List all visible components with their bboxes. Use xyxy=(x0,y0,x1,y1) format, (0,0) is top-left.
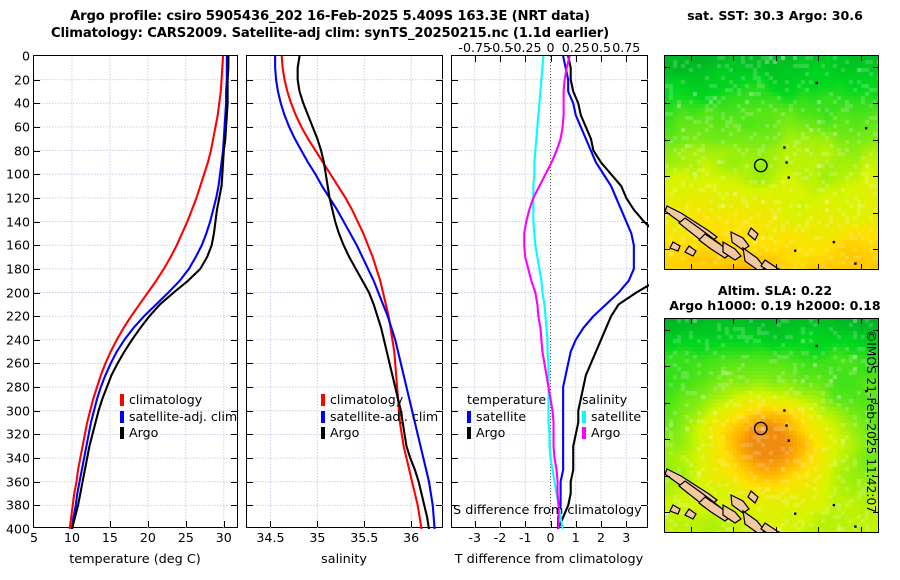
map-x-tick xyxy=(776,56,777,61)
y-axis-tick xyxy=(247,411,253,412)
map-y-tick xyxy=(665,213,670,214)
y-axis-tick xyxy=(436,127,442,128)
depth-tick-label: 320 xyxy=(6,427,30,442)
depth-tick-label: 80 xyxy=(14,143,30,158)
map-x-tick xyxy=(818,264,819,269)
x-tick-label-top: -0.25 xyxy=(509,40,542,55)
x-tick-label: 5 xyxy=(30,530,38,545)
y-axis-tick xyxy=(231,505,237,506)
x-axis-tick xyxy=(576,521,577,527)
y-axis-tick xyxy=(231,151,237,152)
x-axis-tick-top xyxy=(551,56,552,62)
y-axis-tick xyxy=(34,103,40,104)
x-tick-label: 15 xyxy=(102,530,118,545)
legend-swatch-satellite-adj xyxy=(120,411,124,423)
legend-swatch-salinity-argo xyxy=(582,427,586,439)
x-axis-tick-top xyxy=(525,56,526,62)
temperature-legend: climatology satellite-adj. clim Argo xyxy=(120,392,237,442)
y-axis-tick xyxy=(247,458,253,459)
y-axis-tick xyxy=(34,505,40,506)
y-axis-tick xyxy=(34,80,40,81)
map-x-tick xyxy=(818,527,819,532)
y-axis-tick xyxy=(452,151,458,152)
x-tick-label-top: 0 xyxy=(546,40,554,55)
y-axis-tick xyxy=(231,198,237,199)
legend-item: climatology xyxy=(321,392,438,409)
imos-credit: ©IMOS 21-Feb-2025 11:42:07 xyxy=(864,330,878,513)
y-axis-tick xyxy=(436,434,442,435)
map-y-tick xyxy=(665,403,670,404)
y-axis-tick xyxy=(641,103,647,104)
y-axis-tick xyxy=(34,174,40,175)
legend-swatch-argo xyxy=(321,427,325,439)
map-y-tick xyxy=(665,249,670,250)
sla-map: 0-2-4-6-8-10160162164166168 xyxy=(664,318,879,533)
y-axis-tick xyxy=(231,434,237,435)
y-axis-tick xyxy=(247,482,253,483)
y-axis-tick xyxy=(641,198,647,199)
x-axis-tick xyxy=(500,521,501,527)
map-y-tick xyxy=(665,67,670,68)
sla-overlay xyxy=(665,319,879,533)
x-tick-label: 0 xyxy=(546,530,554,545)
y-axis-tick xyxy=(436,482,442,483)
y-axis-tick xyxy=(436,80,442,81)
y-axis-tick xyxy=(641,222,647,223)
y-axis-tick xyxy=(231,387,237,388)
y-axis-tick xyxy=(231,127,237,128)
y-axis-tick xyxy=(247,363,253,364)
y-axis-tick xyxy=(231,411,237,412)
map-x-tick xyxy=(861,527,862,532)
y-axis-tick xyxy=(34,387,40,388)
x-axis-tick-top xyxy=(475,56,476,62)
x-axis-tick xyxy=(551,521,552,527)
depth-tick-label: 200 xyxy=(6,285,30,300)
map-y-tick xyxy=(665,140,670,141)
sla-map-title-line2: Argo h1000: 0.19 h2000: 0.18 xyxy=(652,298,898,313)
y-axis-tick xyxy=(452,411,458,412)
y-axis-tick xyxy=(247,316,253,317)
y-axis-tick xyxy=(34,434,40,435)
map-x-tick xyxy=(733,527,734,532)
legend-item: Argo xyxy=(120,425,237,442)
legend-heading-temperature: temperature xyxy=(467,392,546,409)
y-axis-tick xyxy=(34,293,40,294)
y-axis-tick xyxy=(231,80,237,81)
legend-label: satellite xyxy=(591,409,641,426)
sla-map-title-line1: Altim. SLA: 0.22 xyxy=(660,283,890,298)
map-x-tick xyxy=(733,264,734,269)
map-x-tick xyxy=(691,319,692,324)
y-axis-tick xyxy=(436,198,442,199)
salinity-difference-axis-title: S difference from climatology xyxy=(453,503,642,518)
map-y-tick xyxy=(665,366,670,367)
y-axis-tick xyxy=(34,340,40,341)
x-axis-tick xyxy=(270,521,271,527)
legend-item: Argo xyxy=(582,425,641,442)
legend-item: Argo xyxy=(321,425,438,442)
y-axis-tick xyxy=(452,245,458,246)
map-y-tick xyxy=(873,140,878,141)
y-axis-tick xyxy=(247,151,253,152)
y-axis-tick xyxy=(436,222,442,223)
y-axis-tick xyxy=(436,151,442,152)
map-y-tick xyxy=(665,103,670,104)
y-axis-tick xyxy=(34,316,40,317)
map-y-tick xyxy=(873,249,878,250)
temperature-axis-title: temperature (deg C) xyxy=(69,552,201,567)
x-axis-tick xyxy=(626,521,627,527)
legend-item: Argo xyxy=(467,425,546,442)
y-axis-tick xyxy=(452,198,458,199)
map-x-tick xyxy=(861,319,862,324)
y-axis-tick xyxy=(436,505,442,506)
y-axis-tick xyxy=(436,387,442,388)
y-axis-tick xyxy=(231,174,237,175)
difference-legend-temperature: temperature satellite Argo xyxy=(467,392,546,442)
x-axis-tick xyxy=(186,521,187,527)
legend-item: satellite-adj. clim xyxy=(321,409,438,426)
y-axis-tick xyxy=(452,269,458,270)
legend-label: satellite-adj. clim xyxy=(330,409,438,426)
x-tick-label: 2 xyxy=(597,530,605,545)
y-axis-tick xyxy=(641,458,647,459)
x-axis-tick xyxy=(525,521,526,527)
y-axis-tick xyxy=(452,174,458,175)
legend-swatch-salinity-satellite xyxy=(582,411,586,423)
y-axis-tick xyxy=(34,363,40,364)
map-x-tick xyxy=(776,264,777,269)
depth-tick-label: 0 xyxy=(22,49,30,64)
y-axis-tick xyxy=(641,434,647,435)
depth-tick-label: 120 xyxy=(6,190,30,205)
y-axis-tick xyxy=(247,103,253,104)
y-axis-tick xyxy=(452,363,458,364)
temperature-plot-area xyxy=(34,56,239,529)
map-x-tick xyxy=(861,56,862,61)
y-axis-tick xyxy=(641,245,647,246)
depth-tick-label: 240 xyxy=(6,332,30,347)
legend-swatch-satellite-adj xyxy=(321,411,325,423)
depth-tick-label: 280 xyxy=(6,380,30,395)
legend-label: satellite xyxy=(476,409,526,426)
map-y-tick xyxy=(665,176,670,177)
legend-label: Argo xyxy=(330,425,359,442)
y-axis-tick xyxy=(452,293,458,294)
legend-label: Argo xyxy=(476,425,505,442)
map-x-tick xyxy=(776,319,777,324)
y-axis-tick xyxy=(247,434,253,435)
map-y-tick xyxy=(873,103,878,104)
y-axis-tick xyxy=(231,269,237,270)
y-axis-tick xyxy=(231,340,237,341)
salinity-axis-title: salinity xyxy=(321,552,367,567)
sst-overlay xyxy=(665,56,879,270)
legend-swatch-climatology xyxy=(321,394,325,406)
map-y-tick xyxy=(665,512,670,513)
y-axis-tick xyxy=(641,316,647,317)
x-tick-label-top: 0.25 xyxy=(562,40,590,55)
y-axis-tick xyxy=(247,340,253,341)
legend-item: satellite xyxy=(467,409,546,426)
y-axis-tick xyxy=(436,174,442,175)
y-axis-tick xyxy=(34,222,40,223)
x-tick-label: 25 xyxy=(178,530,194,545)
y-axis-tick xyxy=(231,245,237,246)
y-axis-tick xyxy=(231,458,237,459)
depth-tick-label: 380 xyxy=(6,498,30,513)
y-axis-tick xyxy=(34,127,40,128)
x-axis-tick xyxy=(110,521,111,527)
y-axis-tick xyxy=(247,269,253,270)
x-axis-tick xyxy=(224,521,225,527)
y-axis-tick xyxy=(247,127,253,128)
y-axis-tick xyxy=(452,222,458,223)
y-axis-tick xyxy=(452,482,458,483)
y-axis-tick xyxy=(231,103,237,104)
y-axis-tick xyxy=(436,245,442,246)
salinity-profile-panel: climatology satellite-adj. clim Argo 34.… xyxy=(246,55,443,528)
y-axis-tick xyxy=(452,127,458,128)
x-tick-label: 10 xyxy=(64,530,80,545)
y-axis-tick xyxy=(247,222,253,223)
map-y-tick xyxy=(873,213,878,214)
y-axis-tick xyxy=(641,340,647,341)
y-axis-tick xyxy=(436,458,442,459)
y-axis-tick xyxy=(231,482,237,483)
x-axis-tick xyxy=(475,521,476,527)
map-x-tick xyxy=(691,527,692,532)
legend-label: climatology xyxy=(330,392,403,409)
y-axis-tick xyxy=(452,80,458,81)
x-tick-label: 20 xyxy=(140,530,156,545)
difference-legend-salinity: salinity satellite Argo xyxy=(582,392,641,442)
y-axis-tick xyxy=(641,482,647,483)
y-axis-tick xyxy=(247,174,253,175)
x-tick-label: -1 xyxy=(519,530,532,545)
temperature-difference-axis-title: T difference from climatology xyxy=(455,552,643,567)
title-line-1: Argo profile: csiro 5905436_202 16-Feb-2… xyxy=(0,8,660,25)
x-axis-tick-top xyxy=(500,56,501,62)
x-axis-tick-top xyxy=(601,56,602,62)
y-axis-tick xyxy=(641,387,647,388)
legend-swatch-argo xyxy=(467,427,471,439)
depth-tick-label: 20 xyxy=(14,72,30,87)
map-x-tick xyxy=(861,264,862,269)
map-x-tick xyxy=(818,56,819,61)
y-axis-tick xyxy=(247,245,253,246)
legend-item: satellite xyxy=(582,409,641,426)
y-axis-tick xyxy=(436,269,442,270)
legend-heading-salinity: salinity xyxy=(582,392,641,409)
depth-tick-label: 360 xyxy=(6,474,30,489)
sst-map: 0-2-4-6-8-10160162164166168 xyxy=(664,55,879,270)
y-axis-tick xyxy=(247,505,253,506)
depth-tick-label: 300 xyxy=(6,403,30,418)
map-x-tick xyxy=(733,319,734,324)
y-axis-tick xyxy=(34,198,40,199)
legend-label: satellite-adj. clim xyxy=(129,409,237,426)
y-axis-tick xyxy=(452,340,458,341)
y-axis-tick xyxy=(231,316,237,317)
map-x-tick xyxy=(733,56,734,61)
y-axis-tick xyxy=(231,222,237,223)
map-y-tick xyxy=(665,439,670,440)
x-axis-tick-top xyxy=(626,56,627,62)
x-tick-label: 30 xyxy=(216,530,232,545)
x-tick-label: 1 xyxy=(572,530,580,545)
x-axis-tick xyxy=(601,521,602,527)
x-axis-tick xyxy=(317,521,318,527)
x-axis-tick xyxy=(364,521,365,527)
y-axis-tick xyxy=(34,269,40,270)
map-x-tick xyxy=(776,527,777,532)
map-x-tick xyxy=(691,264,692,269)
depth-tick-label: 260 xyxy=(6,356,30,371)
y-axis-tick xyxy=(231,363,237,364)
y-axis-tick xyxy=(436,340,442,341)
x-tick-label: 3 xyxy=(622,530,630,545)
y-axis-tick xyxy=(452,387,458,388)
y-axis-tick xyxy=(436,103,442,104)
map-x-tick xyxy=(691,56,692,61)
y-axis-tick xyxy=(34,458,40,459)
legend-item: climatology xyxy=(120,392,237,409)
depth-tick-label: 180 xyxy=(6,261,30,276)
y-axis-tick xyxy=(436,363,442,364)
legend-label: Argo xyxy=(129,425,158,442)
depth-tick-label: 400 xyxy=(6,522,30,537)
y-axis-tick xyxy=(641,269,647,270)
y-axis-tick xyxy=(34,151,40,152)
x-tick-label-top: 0.5 xyxy=(591,40,611,55)
map-x-tick xyxy=(818,319,819,324)
y-axis-tick xyxy=(34,411,40,412)
x-tick-label: -2 xyxy=(494,530,507,545)
depth-tick-label: 160 xyxy=(6,238,30,253)
x-tick-label: 35.5 xyxy=(350,530,378,545)
x-tick-label-top: -0.75 xyxy=(458,40,491,55)
y-axis-tick xyxy=(231,293,237,294)
y-axis-tick xyxy=(436,293,442,294)
x-axis-tick-top xyxy=(576,56,577,62)
salinity-legend: climatology satellite-adj. clim Argo xyxy=(321,392,438,442)
y-axis-tick xyxy=(641,293,647,294)
y-axis-tick xyxy=(452,458,458,459)
y-axis-tick xyxy=(452,316,458,317)
y-axis-tick xyxy=(247,293,253,294)
depth-tick-label: 40 xyxy=(14,96,30,111)
y-axis-tick xyxy=(247,80,253,81)
x-axis-tick xyxy=(411,521,412,527)
y-axis-tick xyxy=(641,174,647,175)
x-tick-label: 36 xyxy=(403,530,419,545)
y-axis-tick xyxy=(436,411,442,412)
x-tick-label: 35 xyxy=(309,530,325,545)
map-y-tick xyxy=(665,330,670,331)
y-axis-tick xyxy=(34,482,40,483)
x-axis-tick xyxy=(148,521,149,527)
depth-tick-label: 100 xyxy=(6,167,30,182)
map-y-tick xyxy=(873,176,878,177)
legend-swatch-satellite xyxy=(467,411,471,423)
page-title: Argo profile: csiro 5905436_202 16-Feb-2… xyxy=(0,8,660,42)
x-axis-tick xyxy=(72,521,73,527)
y-axis-tick xyxy=(452,103,458,104)
map-y-tick xyxy=(873,67,878,68)
y-axis-tick xyxy=(641,363,647,364)
y-axis-tick xyxy=(641,127,647,128)
difference-profile-panel: temperature satellite Argo salinity sate… xyxy=(451,55,648,528)
y-axis-tick xyxy=(436,316,442,317)
depth-tick-label: 140 xyxy=(6,214,30,229)
legend-item: satellite-adj. clim xyxy=(120,409,237,426)
legend-swatch-climatology xyxy=(120,394,124,406)
y-axis-tick xyxy=(641,411,647,412)
map-y-tick xyxy=(665,476,670,477)
y-axis-tick xyxy=(641,151,647,152)
salinity-plot-area xyxy=(247,56,444,529)
legend-label: climatology xyxy=(129,392,202,409)
depth-tick-label: 340 xyxy=(6,451,30,466)
y-axis-tick xyxy=(34,245,40,246)
y-axis-tick xyxy=(641,80,647,81)
x-tick-label: -3 xyxy=(468,530,481,545)
temperature-profile-panel: climatology satellite-adj. clim Argo 020… xyxy=(33,55,238,528)
depth-tick-label: 60 xyxy=(14,119,30,134)
sst-map-title: sat. SST: 30.3 Argo: 30.6 xyxy=(660,8,890,23)
x-tick-label-top: 0.75 xyxy=(612,40,640,55)
difference-plot-area xyxy=(452,56,649,529)
x-tick-label: 34.5 xyxy=(256,530,284,545)
depth-tick-label: 220 xyxy=(6,309,30,324)
legend-swatch-argo xyxy=(120,427,124,439)
y-axis-tick xyxy=(452,434,458,435)
y-axis-tick xyxy=(247,198,253,199)
legend-label: Argo xyxy=(591,425,620,442)
y-axis-tick xyxy=(247,387,253,388)
